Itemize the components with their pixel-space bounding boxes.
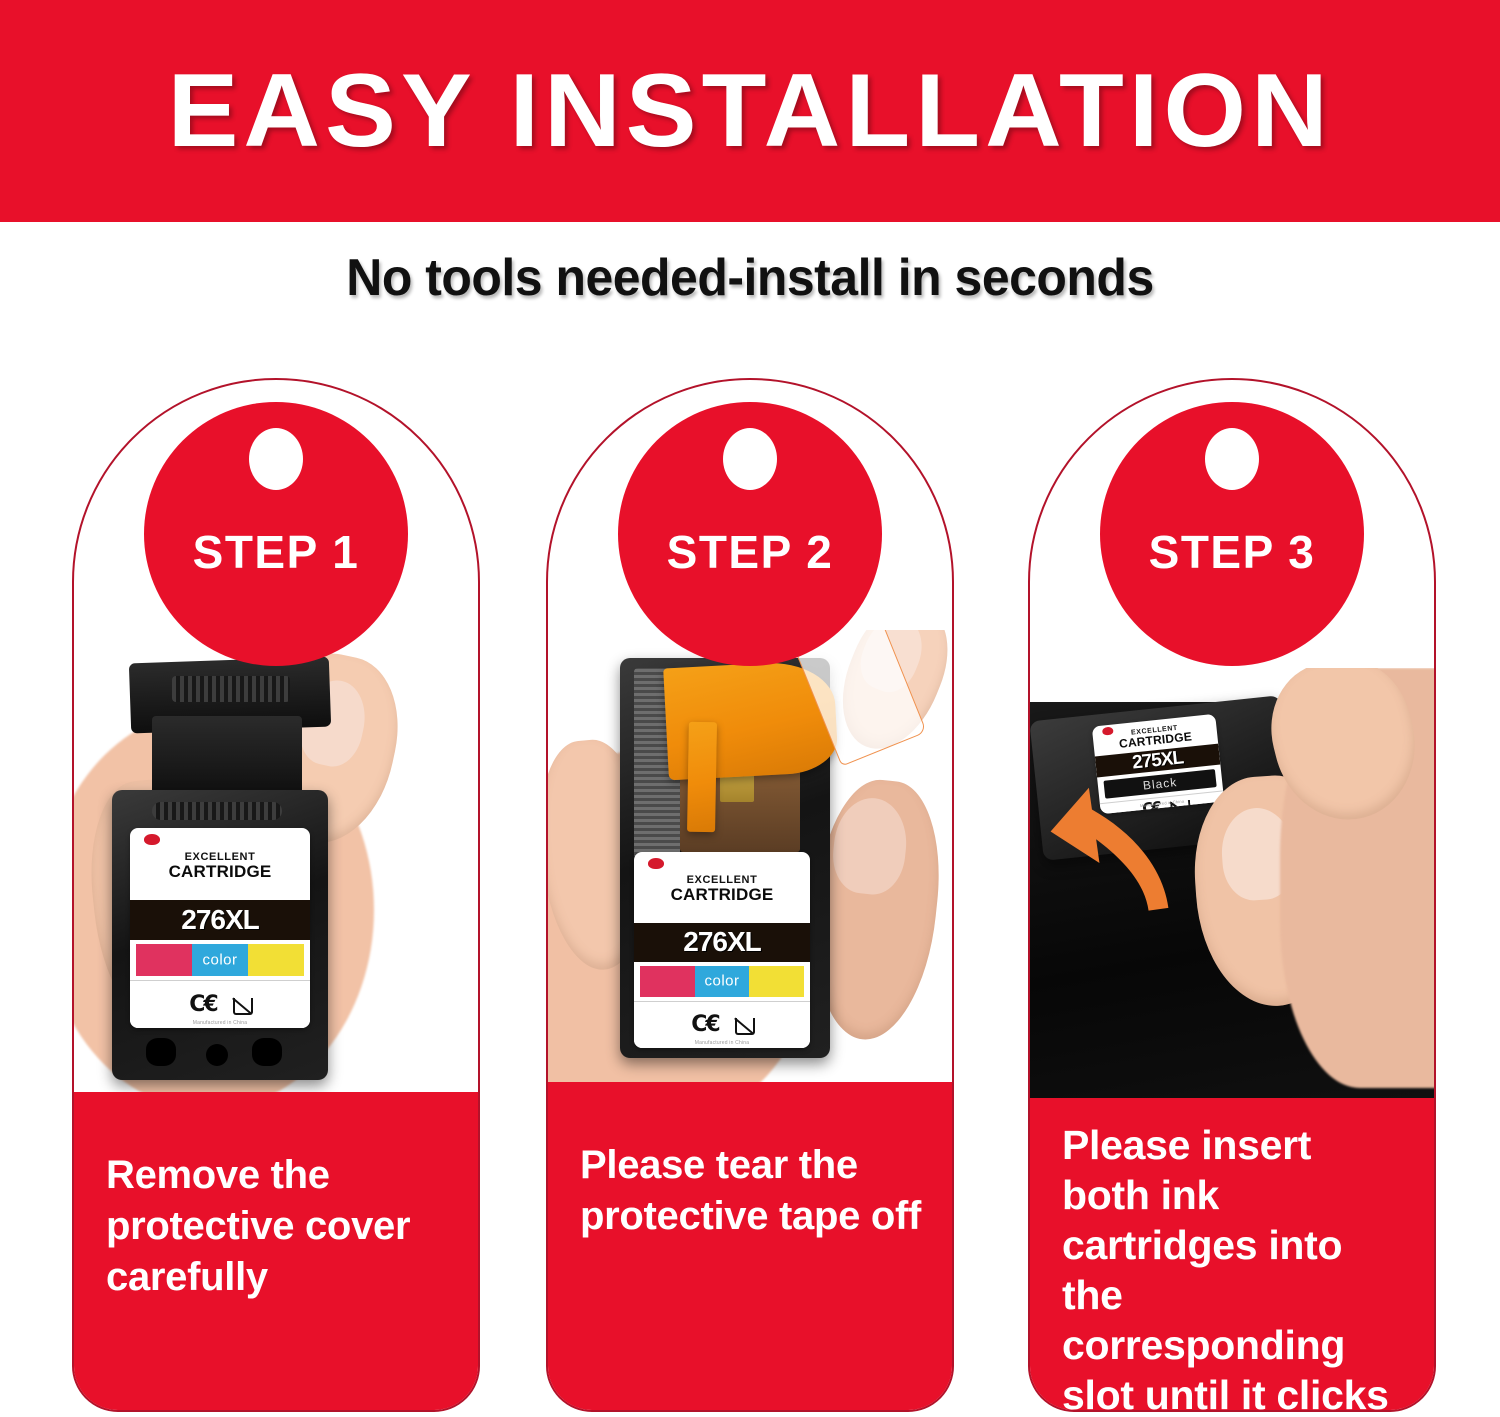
step-badge-label: STEP 3: [1149, 525, 1316, 579]
step-badge-2: STEP 2: [618, 402, 882, 666]
step-caption-3: Please insert both ink cartridges into t…: [1030, 1098, 1434, 1410]
label-brand-block: EXCELLENT CARTRIDGE: [130, 828, 310, 900]
cover-neck: [152, 716, 302, 800]
label-ink-type: color: [130, 952, 310, 969]
label-model-band: 276XL: [634, 923, 810, 962]
step-cards: STEP 1 EXCELLENT: [0, 0, 1500, 1417]
label-model-text: 276XL: [181, 906, 259, 934]
label-fine-print: Manufactured in China: [634, 1040, 810, 1046]
label-color-band: color: [634, 962, 810, 1001]
cover-ridge: [172, 676, 290, 702]
label-brand-line2: CARTRIDGE: [671, 886, 774, 904]
brand-logo-icon: [144, 834, 160, 845]
step-caption-2: Please tear the protective tape off: [548, 1082, 952, 1410]
step-photo-1: EXCELLENT CARTRIDGE 276XL color C€: [74, 650, 478, 1102]
step-badge-label: STEP 1: [193, 525, 360, 579]
step-card-1: STEP 1 EXCELLENT: [72, 378, 480, 1412]
step-badge-3: STEP 3: [1100, 402, 1364, 666]
badge-hole-icon: [723, 428, 777, 490]
label-brand-line1: EXCELLENT: [185, 852, 256, 863]
cartridge-label: EXCELLENT CARTRIDGE 276XL color C€: [130, 828, 310, 1028]
step-caption-1: Remove the protective cover carefully: [74, 1092, 478, 1410]
cartridge-vent-right: [252, 1038, 282, 1066]
insert-direction-arrow-icon: [1036, 712, 1186, 932]
weee-bin-icon: [733, 1014, 753, 1036]
cartridge-vent-left: [146, 1038, 176, 1066]
step-photo-3: EXCELLENT CARTRIDGE 275XL Black C€ Manuf…: [1030, 668, 1434, 1102]
ce-mark-icon: C€: [691, 1012, 718, 1037]
brand-logo-icon: [648, 858, 664, 869]
step-photo-2: EXCELLENT CARTRIDGE 276XL color C€: [548, 630, 952, 1108]
label-brand-block: EXCELLENT CARTRIDGE: [634, 852, 810, 923]
step-badge-label: STEP 2: [667, 525, 834, 579]
badge-hole-icon: [249, 428, 303, 490]
label-fine-print: Manufactured in China: [130, 1020, 310, 1026]
cartridge-vent-hole: [206, 1044, 228, 1066]
protective-tape-fold: [687, 722, 717, 832]
step-badge-1: STEP 1: [144, 402, 408, 666]
cartridge-label: EXCELLENT CARTRIDGE 276XL color C€: [634, 852, 810, 1048]
infographic-page: EASY INSTALLATION No tools needed-instal…: [0, 0, 1500, 1417]
ce-mark-icon: C€: [189, 992, 216, 1017]
step-card-3: STEP 3 EXCELLENT CARTRIDGE 275XL: [1028, 378, 1436, 1412]
weee-bin-icon: [231, 994, 251, 1016]
label-brand-line2: CARTRIDGE: [169, 863, 272, 881]
label-ink-type: color: [634, 973, 810, 990]
badge-hole-icon: [1205, 428, 1259, 490]
label-model-text: 276XL: [683, 928, 761, 956]
label-model-band: 276XL: [130, 900, 310, 940]
cartridge-top-ridge: [152, 802, 282, 820]
step-card-2: STEP 2: [546, 378, 954, 1412]
label-color-band: color: [130, 940, 310, 980]
